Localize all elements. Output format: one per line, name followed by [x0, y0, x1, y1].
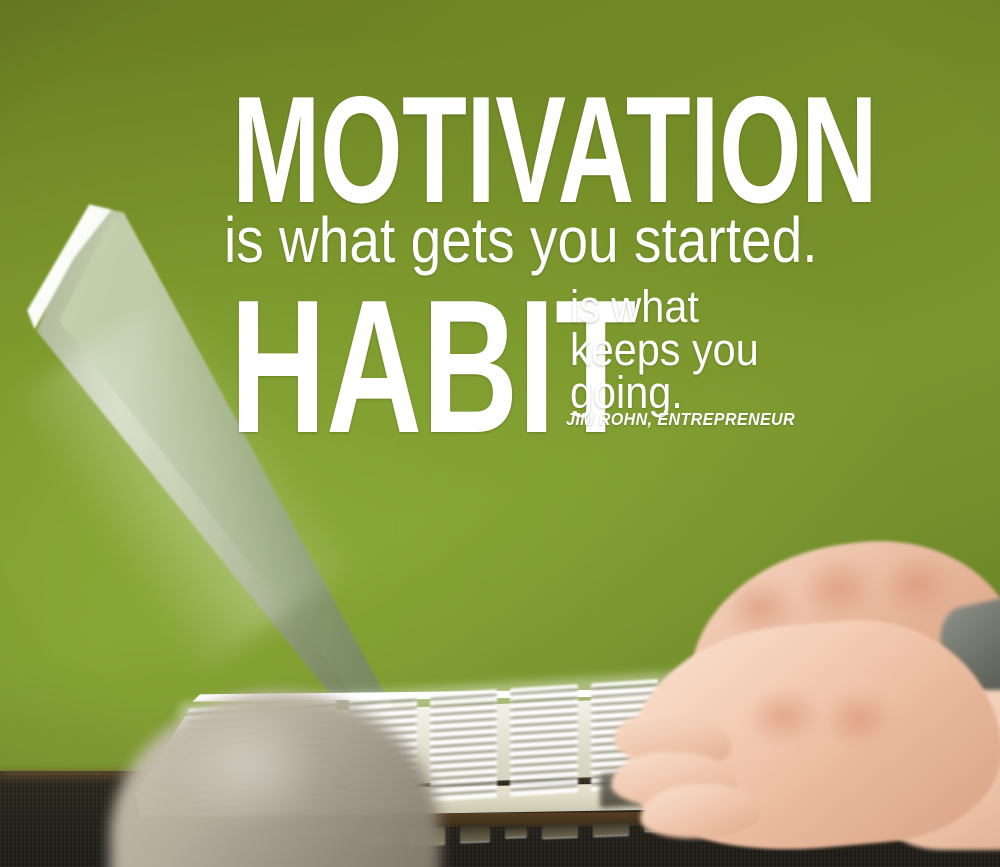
thunderbolt-port [505, 827, 527, 838]
knuckle [796, 551, 881, 626]
knuckle [820, 687, 897, 751]
knuckle [744, 683, 825, 749]
quote-text-block: MOTIVATION is what gets you started. HAB… [0, 0, 1000, 460]
quote-tail-line-3: going. [570, 371, 809, 414]
knuckle [876, 549, 957, 620]
firewire-port [460, 825, 490, 842]
motivational-quote-poster: MOTIVATION is what gets you started. HAB… [0, 0, 1000, 867]
key-column [430, 689, 498, 801]
usb-port-2 [593, 821, 629, 835]
quote-tail-line-1: is what [570, 285, 809, 328]
quote-attribution: JIM ROHN, ENTREPRENEUR [566, 409, 795, 430]
usb-port-1 [542, 823, 578, 837]
key-column [510, 684, 578, 796]
knee-highlight [175, 707, 325, 827]
quote-tail-block: is what keeps you going. [570, 285, 830, 414]
quote-tail-line-2: keeps you [570, 328, 809, 371]
